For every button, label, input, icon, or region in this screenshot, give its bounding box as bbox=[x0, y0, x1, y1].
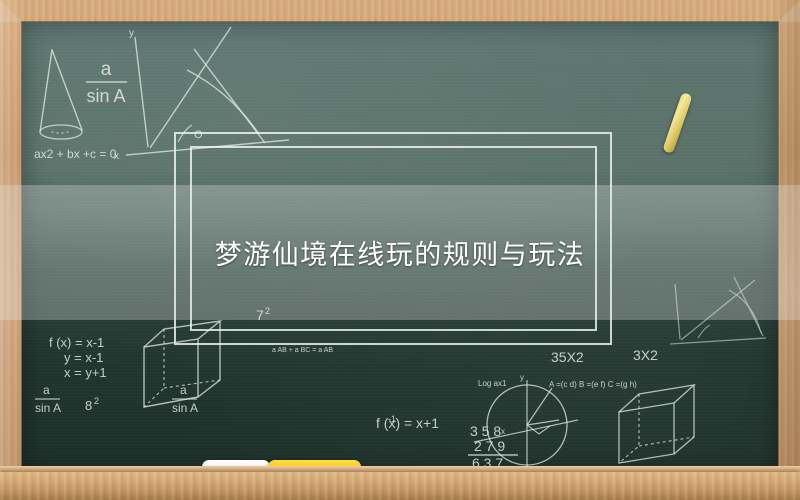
blackboard-wooden-frame: a sin A y x O ax2 + bx +c = 0 bbox=[0, 0, 800, 500]
chalk-a-num-2: a bbox=[43, 383, 50, 397]
chalk-cone-icon bbox=[40, 50, 82, 139]
chalk-circle-y-label: y bbox=[520, 373, 524, 382]
chalk-fn-line-2: y = x-1 bbox=[64, 350, 103, 365]
chalk-eight: 8 bbox=[85, 398, 92, 413]
page-title: 梦游仙境在线玩的规则与玩法 bbox=[0, 185, 800, 320]
chalk-fn-line-1: f (x) = x-1 bbox=[49, 335, 104, 350]
chalk-cube-right-icon bbox=[619, 385, 694, 463]
chalk-circle-x-label: x bbox=[501, 427, 505, 436]
frame-miter-top-left bbox=[0, 0, 22, 22]
frame-miter-top-right bbox=[778, 0, 800, 22]
chalk-matrix-expression: A =(c d) B =(e f) C =(g h) bbox=[549, 380, 637, 389]
chalk-inverse-function: f (x) = x+1 bbox=[376, 415, 439, 431]
chalk-sina-2: sin A bbox=[35, 401, 61, 415]
chalkboard-ledge bbox=[0, 472, 800, 500]
chalk-axis-y-label: y bbox=[129, 28, 134, 39]
chalk-eight-superscript: 2 bbox=[94, 396, 99, 406]
chalk-a-num-3: a bbox=[180, 383, 187, 397]
chalk-log-small: Log ax1 bbox=[478, 379, 507, 388]
chalk-quadratic-equation: ax2 + bx +c = 0 bbox=[34, 147, 117, 161]
chalk-fn-line-3: x = y+1 bbox=[64, 365, 107, 380]
chalk-fraction-a-numerator: a bbox=[101, 59, 112, 80]
chalk-label-3x2: 3X2 bbox=[633, 347, 658, 363]
chalk-label-35x2: 35X2 bbox=[551, 349, 584, 365]
chalk-inverse-superscript: -1 bbox=[388, 414, 396, 424]
chalk-small-expression: a AB + a BC = a AB bbox=[272, 347, 333, 354]
chalk-fraction-a-denominator: sin A bbox=[86, 86, 125, 106]
chalk-sina-3: sin A bbox=[172, 401, 198, 415]
chalk-function-equations: f (x) = x-1 y = x-1 x = y+1 bbox=[49, 335, 107, 380]
